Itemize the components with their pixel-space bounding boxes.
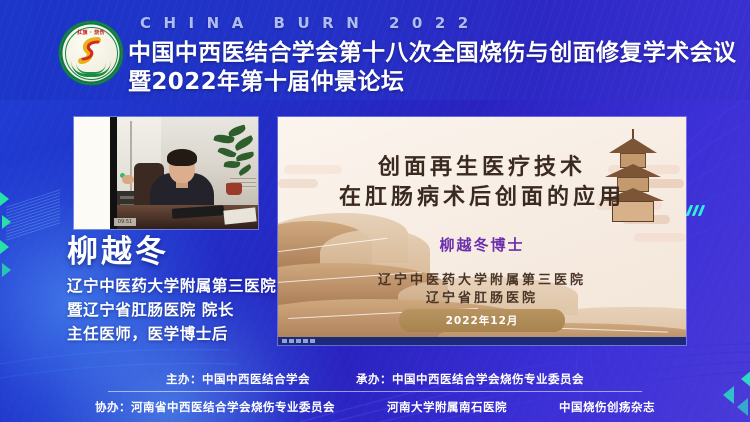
footer-undertaker: 承办：中国中西医结合学会烧伤专业委员会 xyxy=(356,371,584,387)
footer-row-coorganizers: 协办：河南省中西医结合学会烧伤专业委员会 河南大学附属南石医院 中国烧伤创疡杂志 xyxy=(0,399,750,415)
broadcast-stage: 红旗 · 烧伤 CHINA BURN 2022 中国中西医结合学会第十八次全国烧… xyxy=(0,0,750,422)
video-left-black-bar xyxy=(110,117,117,229)
footer-journal: 中国烧伤创疡杂志 xyxy=(559,399,655,415)
footer-credits: 主办：中国中西医结合学会 承办：中国中西医结合学会烧伤专业委员会 协办：河南省中… xyxy=(0,360,750,422)
video-left-white-bar xyxy=(74,117,110,229)
slide-affiliation-line-2: 辽宁省肛肠医院 xyxy=(278,287,686,306)
slide-taskbar-strip xyxy=(278,337,686,345)
footer-divider xyxy=(108,391,642,392)
footer-host: 主办：中国中西医结合学会 xyxy=(166,371,310,387)
conference-emblem-logo: 红旗 · 烧伤 xyxy=(60,22,122,84)
emblem-top-text: 红旗 · 烧伤 xyxy=(77,29,104,36)
speaker-affiliation-line-2: 暨辽宁省肛肠医院 院长 xyxy=(67,298,234,320)
conference-header: 红旗 · 烧伤 CHINA BURN 2022 中国中西医结合学会第十八次全国烧… xyxy=(0,0,750,100)
slide-title-line-2: 在肛肠病术后创面的应用 xyxy=(278,179,686,211)
slide-date-badge: 2022年12月 xyxy=(399,309,565,332)
person-hair xyxy=(167,149,197,166)
chevron-icon xyxy=(0,192,9,206)
speaker-video-feed[interactable]: 09:51 xyxy=(74,117,258,229)
footer-row-organizers: 主办：中国中西医结合学会 承办：中国中西医结合学会烧伤专业委员会 xyxy=(0,371,750,387)
conference-title-line-2: 暨2022年第十届仲景论坛 xyxy=(128,62,404,96)
chevron-icon xyxy=(0,240,9,254)
video-plant xyxy=(212,127,258,185)
speaker-name: 柳越冬 xyxy=(67,226,169,271)
footer-coorganizer: 协办：河南省中西医结合学会烧伤专业委员会 xyxy=(95,399,335,415)
chevron-icon xyxy=(2,215,11,229)
chevron-icon xyxy=(2,263,11,277)
cyan-dash-decoration xyxy=(686,205,705,216)
footer-hospital: 河南大学附属南石医院 xyxy=(387,399,507,415)
conference-eyebrow-text: CHINA BURN 2022 xyxy=(140,14,481,32)
slide-title-line-1: 创面再生医疗技术 xyxy=(278,149,686,181)
video-timestamp-overlay: 09:51 xyxy=(114,218,136,226)
presentation-slide[interactable]: 创面再生医疗技术 在肛肠病术后创面的应用 柳越冬博士 辽宁中医药大学附属第三医院… xyxy=(278,117,686,345)
speaker-affiliation-line-1: 辽宁中医药大学附属第三医院 xyxy=(67,274,276,296)
video-plant-pot xyxy=(226,183,242,195)
speaker-affiliation-line-3: 主任医师，医学博士后 xyxy=(67,322,228,344)
slide-presenter-name: 柳越冬博士 xyxy=(278,234,686,255)
slide-affiliation-line-1: 辽宁中医药大学附属第三医院 xyxy=(278,269,686,288)
video-hand xyxy=(122,175,134,184)
